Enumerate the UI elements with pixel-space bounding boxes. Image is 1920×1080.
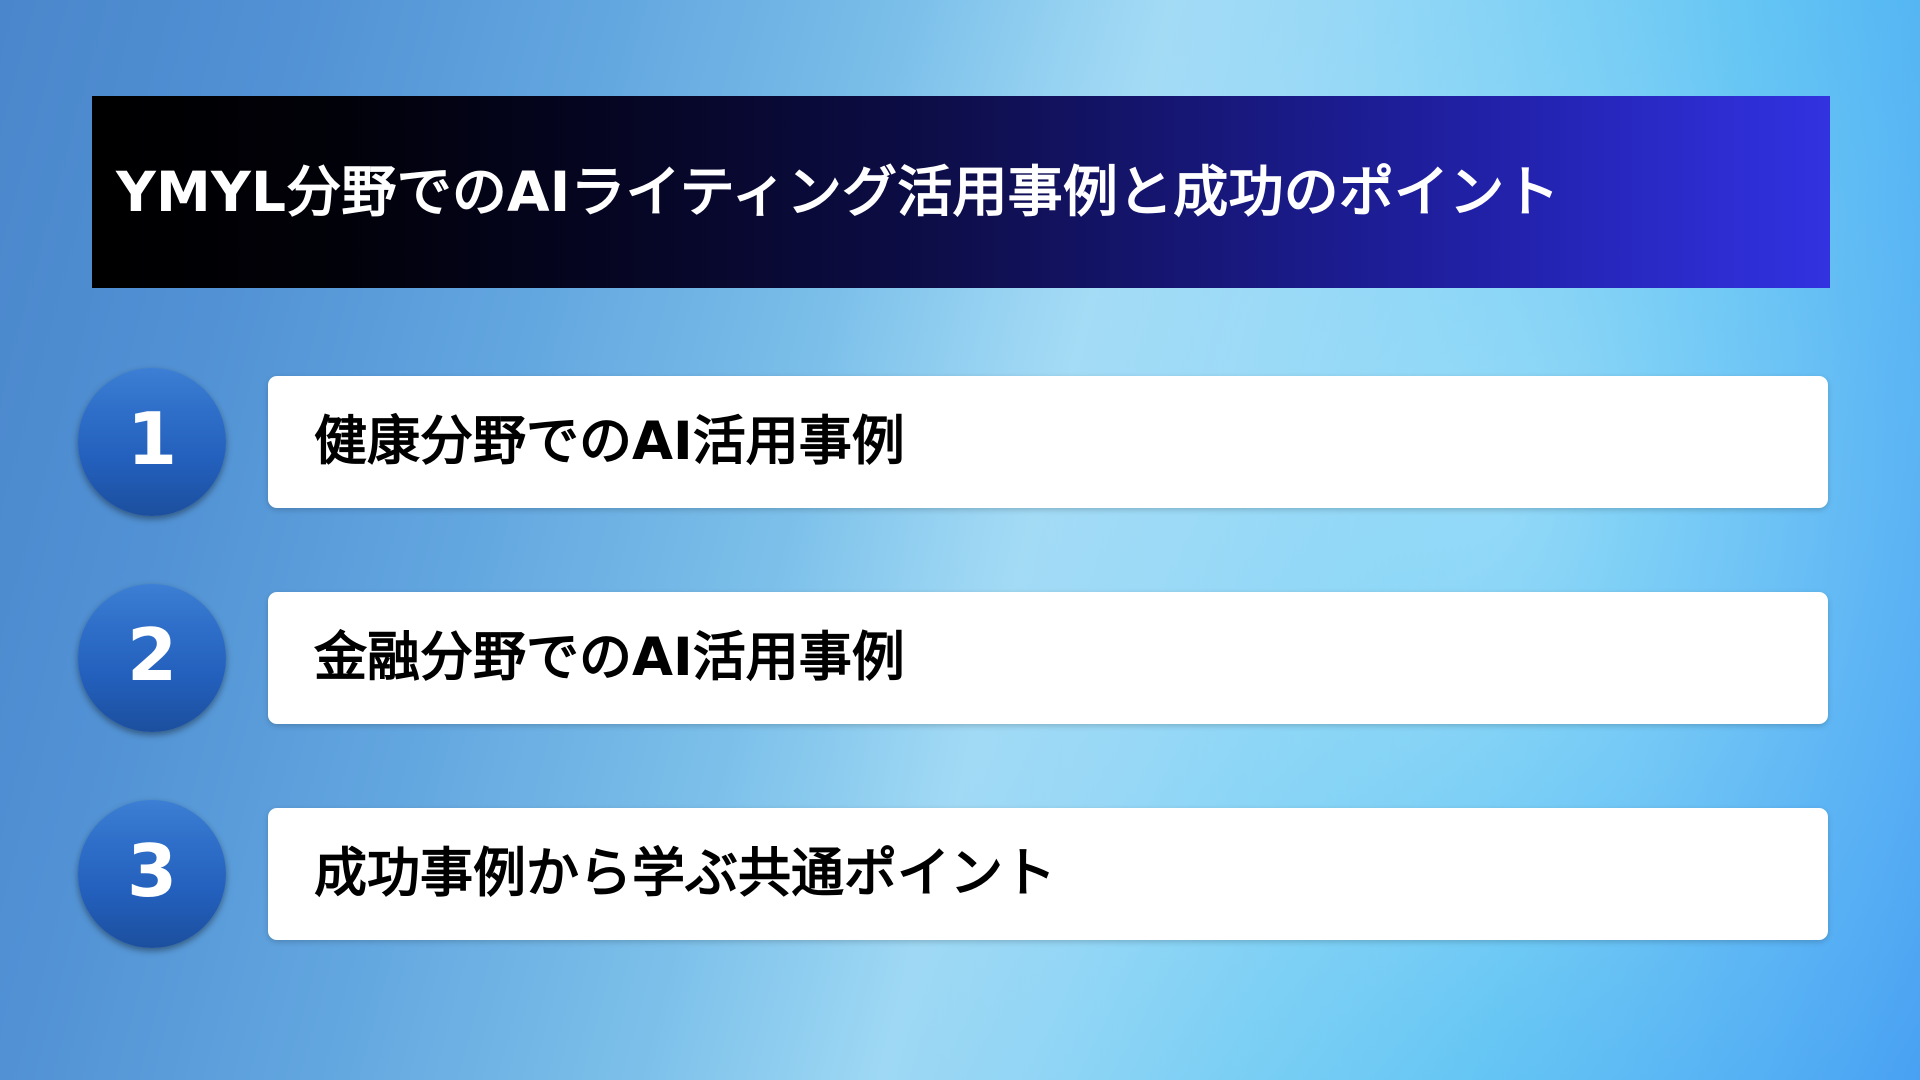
badge-number-label: 2 (127, 619, 177, 691)
list-item[interactable]: 1 健康分野でのAI活用事例 (0, 368, 1920, 516)
agenda-card-label: 成功事例から学ぶ共通ポイント (268, 845, 1056, 903)
number-badge-2: 2 (78, 584, 226, 732)
slide-canvas: YMYL分野でのAIライティング活用事例と成功のポイント 1 健康分野でのAI活… (0, 0, 1920, 1080)
number-badge-1: 1 (78, 368, 226, 516)
agenda-card-1[interactable]: 健康分野でのAI活用事例 (268, 376, 1828, 508)
list-item[interactable]: 2 金融分野でのAI活用事例 (0, 584, 1920, 732)
badge-number-label: 3 (127, 835, 177, 907)
agenda-card-2[interactable]: 金融分野でのAI活用事例 (268, 592, 1828, 724)
agenda-card-label: 健康分野でのAI活用事例 (268, 413, 905, 471)
agenda-card-label: 金融分野でのAI活用事例 (268, 629, 905, 687)
number-badge-3: 3 (78, 800, 226, 948)
agenda-card-3[interactable]: 成功事例から学ぶ共通ポイント (268, 808, 1828, 940)
badge-number-label: 1 (127, 403, 177, 475)
agenda-list: 1 健康分野でのAI活用事例 2 金融分野でのAI活用事例 3 成功事例から学ぶ… (0, 368, 1920, 948)
list-item[interactable]: 3 成功事例から学ぶ共通ポイント (0, 800, 1920, 948)
slide-title-bar: YMYL分野でのAIライティング活用事例と成功のポイント (92, 96, 1830, 288)
page-title: YMYL分野でのAIライティング活用事例と成功のポイント (92, 162, 1560, 223)
